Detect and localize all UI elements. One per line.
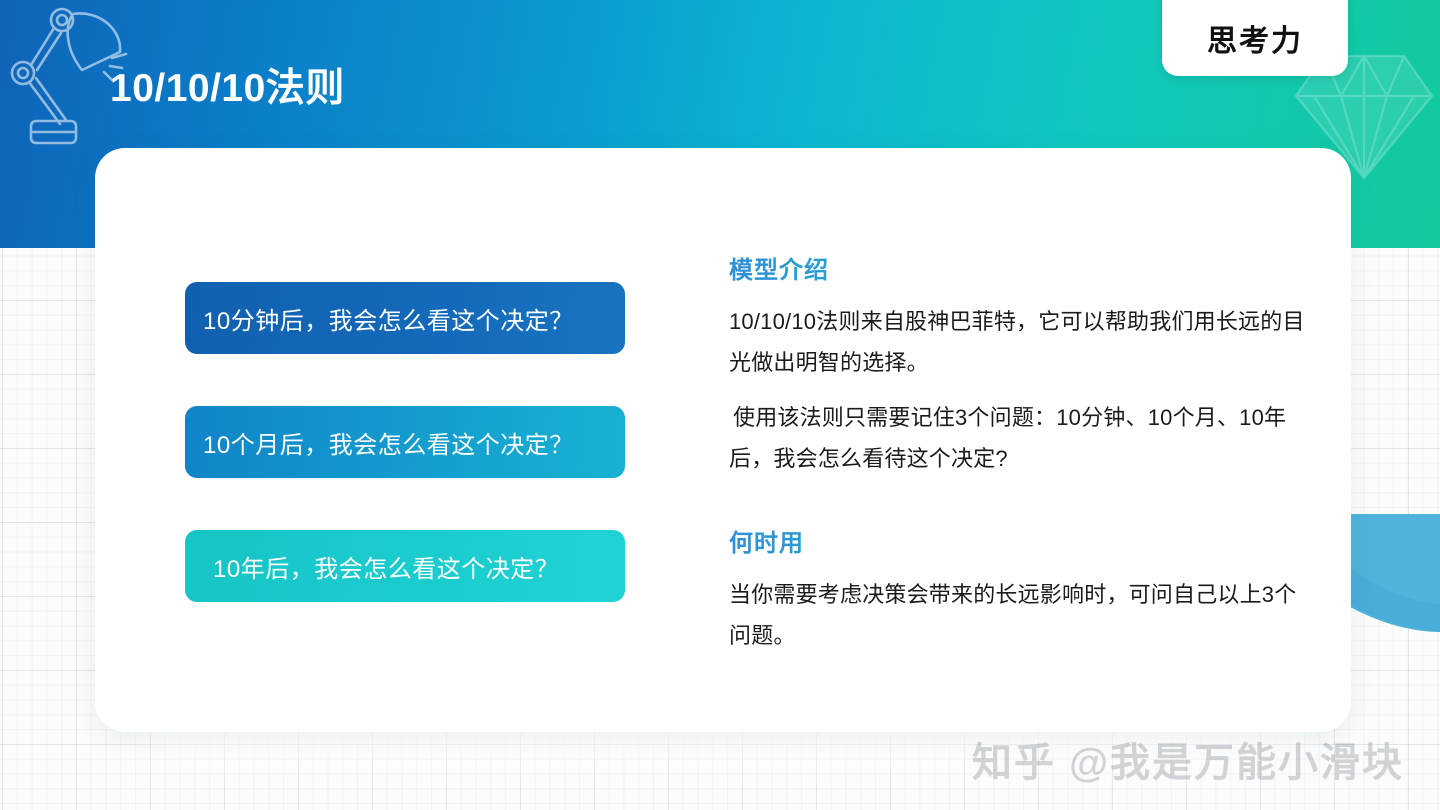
section-heading-model-intro: 模型介绍 xyxy=(729,250,1307,285)
description-column: 模型介绍 10/10/10法则来自股神巴菲特，它可以帮助我们用长远的目光做出明智… xyxy=(729,250,1307,670)
question-pill-10-months[interactable]: 10个月后，我会怎么看这个决定？ xyxy=(185,406,625,478)
question-pill-label: 10年后，我会怎么看这个决定？ xyxy=(213,549,559,584)
section-heading-when-to-use: 何时用 xyxy=(729,523,1307,558)
question-pill-10-minutes[interactable]: 10分钟后，我会怎么看这个决定？ xyxy=(185,282,625,354)
section-paragraph: 使用该法则只需要记住3个问题：10分钟、10个月、10年后，我会怎么看待这个决定… xyxy=(729,397,1307,479)
page-title: 10/10/10法则 xyxy=(110,66,345,113)
question-pill-label: 10分钟后，我会怎么看这个决定？ xyxy=(203,301,574,336)
question-pill-10-years[interactable]: 10年后，我会怎么看这个决定？ xyxy=(185,530,625,602)
section-paragraph: 当你需要考虑决策会带来的长远影响时，可问自己以上3个问题。 xyxy=(729,574,1307,656)
section-paragraph: 10/10/10法则来自股神巴菲特，它可以帮助我们用长远的目光做出明智的选择。 xyxy=(729,301,1307,383)
question-pill-label: 10个月后，我会怎么看这个决定？ xyxy=(203,425,574,460)
slide-root: 10/10/10法则 xyxy=(0,0,1440,810)
status-badge: 思考力 xyxy=(1162,0,1348,76)
watermark: 知乎 @我是万能小滑块 xyxy=(972,730,1404,788)
content-card: 10分钟后，我会怎么看这个决定？ 10个月后，我会怎么看这个决定？ 10年后，我… xyxy=(95,148,1351,732)
question-list: 10分钟后，我会怎么看这个决定？ 10个月后，我会怎么看这个决定？ 10年后，我… xyxy=(185,282,625,602)
badge-label: 思考力 xyxy=(1207,16,1303,60)
